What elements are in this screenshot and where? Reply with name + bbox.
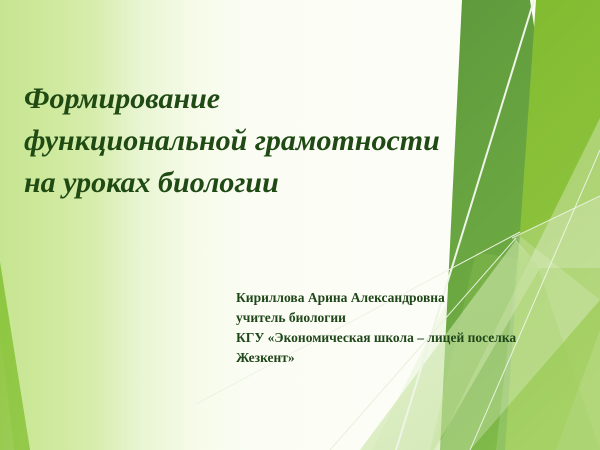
decorative-background-artwork xyxy=(0,0,600,450)
subtitle-role: учитель биологии xyxy=(236,308,586,328)
presentation-slide: Формирование функциональной грамотности … xyxy=(0,0,600,450)
left-edge-green-wedge xyxy=(0,262,92,450)
hairline-diagonals xyxy=(196,0,600,450)
subtitle-author: Кириллова Арина Александровна xyxy=(236,288,586,308)
subtitle-organization-line-2: Жезкент» xyxy=(236,348,586,368)
subtitle-organization-line-1: КГУ «Экономическая школа – лицей поселка xyxy=(236,328,586,348)
title-line-3: на уроках биологии xyxy=(24,162,514,204)
bright-green-right-stripe xyxy=(505,0,600,450)
slide-title: Формирование функциональной грамотности … xyxy=(24,78,514,204)
title-line-1: Формирование xyxy=(24,78,514,120)
slide-subtitle: Кириллова Арина Александровна учитель би… xyxy=(236,288,586,368)
dark-green-diagonal-stripe xyxy=(440,0,600,450)
title-line-2: функциональной грамотности xyxy=(24,120,514,162)
